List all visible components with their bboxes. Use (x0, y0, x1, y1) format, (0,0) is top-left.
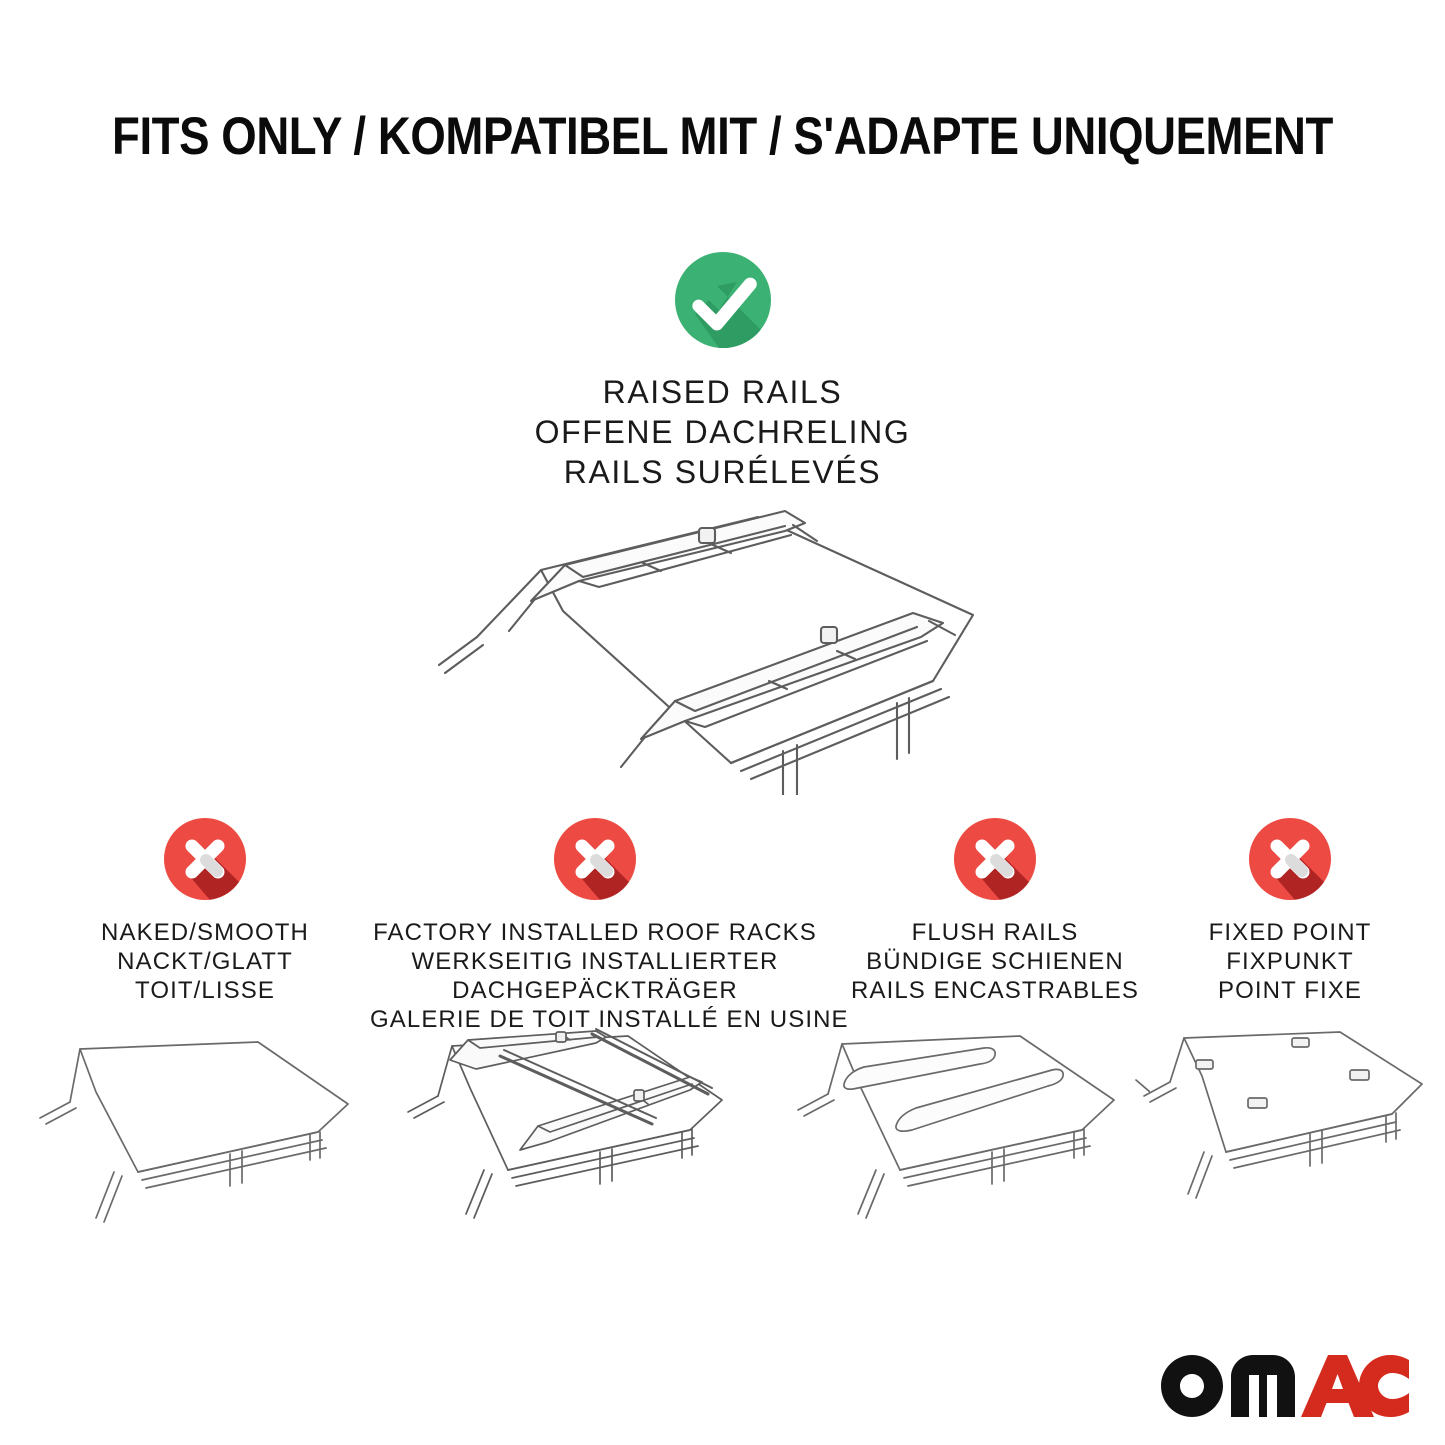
rejected-label-fr: TOIT/LISSE (30, 976, 380, 1005)
rejected-label-fr: RAILS ENCASTRABLES (830, 976, 1160, 1005)
x-circle-icon (954, 818, 1036, 900)
x-circle-icon (554, 818, 636, 900)
check-mark-glyph (675, 252, 771, 348)
car-roof-fixed-point-illustration (1140, 1022, 1445, 1254)
rejected-label-stack: NAKED/SMOOTH NACKT/GLATT TOIT/LISSE (30, 918, 380, 1005)
rejected-roof-type-fixed-point: FIXED POINT FIXPUNKT POINT FIXE (1165, 818, 1415, 1005)
car-roof-naked-smooth-illustration (18, 1022, 378, 1254)
rejected-label-de: FIXPUNKT (1165, 947, 1415, 976)
rejected-roof-type-naked-smooth: NAKED/SMOOTH NACKT/GLATT TOIT/LISSE (30, 818, 380, 1005)
omac-logo-text: OMAC (1161, 1355, 1209, 1359)
rejected-label-de-2: DACHGEPÄCKTRÄGER (370, 976, 820, 1005)
check-circle-icon (675, 252, 771, 348)
car-roof-raised-rails-illustration (413, 495, 1033, 795)
car-roof-factory-roof-racks-illustration (390, 1022, 755, 1254)
rejected-label-de-1: WERKSEITIG INSTALLIERTER (370, 947, 820, 976)
approved-label-en: RAISED RAILS (0, 372, 1445, 412)
approved-roof-type: RAISED RAILS OFFENE DACHRELING RAILS SUR… (0, 252, 1445, 492)
x-mark-glyph (1249, 818, 1331, 900)
x-circle-icon (1249, 818, 1331, 900)
omac-logo-letter-m (1231, 1355, 1295, 1417)
x-circle-icon (164, 818, 246, 900)
rejected-label-en: FACTORY INSTALLED ROOF RACKS (370, 918, 820, 947)
rejected-label-fr: POINT FIXE (1165, 976, 1415, 1005)
rejected-label-de: NACKT/GLATT (30, 947, 380, 976)
car-roof-flush-rails-illustration (788, 1022, 1150, 1254)
approved-label-stack: RAISED RAILS OFFENE DACHRELING RAILS SUR… (0, 372, 1445, 492)
rejected-label-en: FLUSH RAILS (830, 918, 1160, 947)
rejected-label-stack: FACTORY INSTALLED ROOF RACKS WERKSEITIG … (370, 918, 820, 1034)
x-mark-glyph (954, 818, 1036, 900)
rejected-roof-type-factory-roof-racks: FACTORY INSTALLED ROOF RACKS WERKSEITIG … (370, 818, 820, 1034)
approved-label-de: OFFENE DACHRELING (0, 412, 1445, 452)
x-mark-glyph (164, 818, 246, 900)
approved-label-fr: RAILS SURÉLEVÉS (0, 452, 1445, 492)
omac-logo-letter-o (1161, 1355, 1223, 1417)
rejected-label-en: FIXED POINT (1165, 918, 1415, 947)
page-title: FITS ONLY / KOMPATIBEL MIT / S'ADAPTE UN… (101, 106, 1344, 167)
rejected-label-de: BÜNDIGE SCHIENEN (830, 947, 1160, 976)
x-mark-glyph (554, 818, 636, 900)
rejected-label-stack: FLUSH RAILS BÜNDIGE SCHIENEN RAILS ENCAS… (830, 918, 1160, 1005)
rejected-label-en: NAKED/SMOOTH (30, 918, 380, 947)
rejected-roof-type-flush-rails: FLUSH RAILS BÜNDIGE SCHIENEN RAILS ENCAS… (830, 818, 1160, 1005)
rejected-label-stack: FIXED POINT FIXPUNKT POINT FIXE (1165, 918, 1415, 1005)
omac-logo: OMAC (1161, 1355, 1409, 1417)
